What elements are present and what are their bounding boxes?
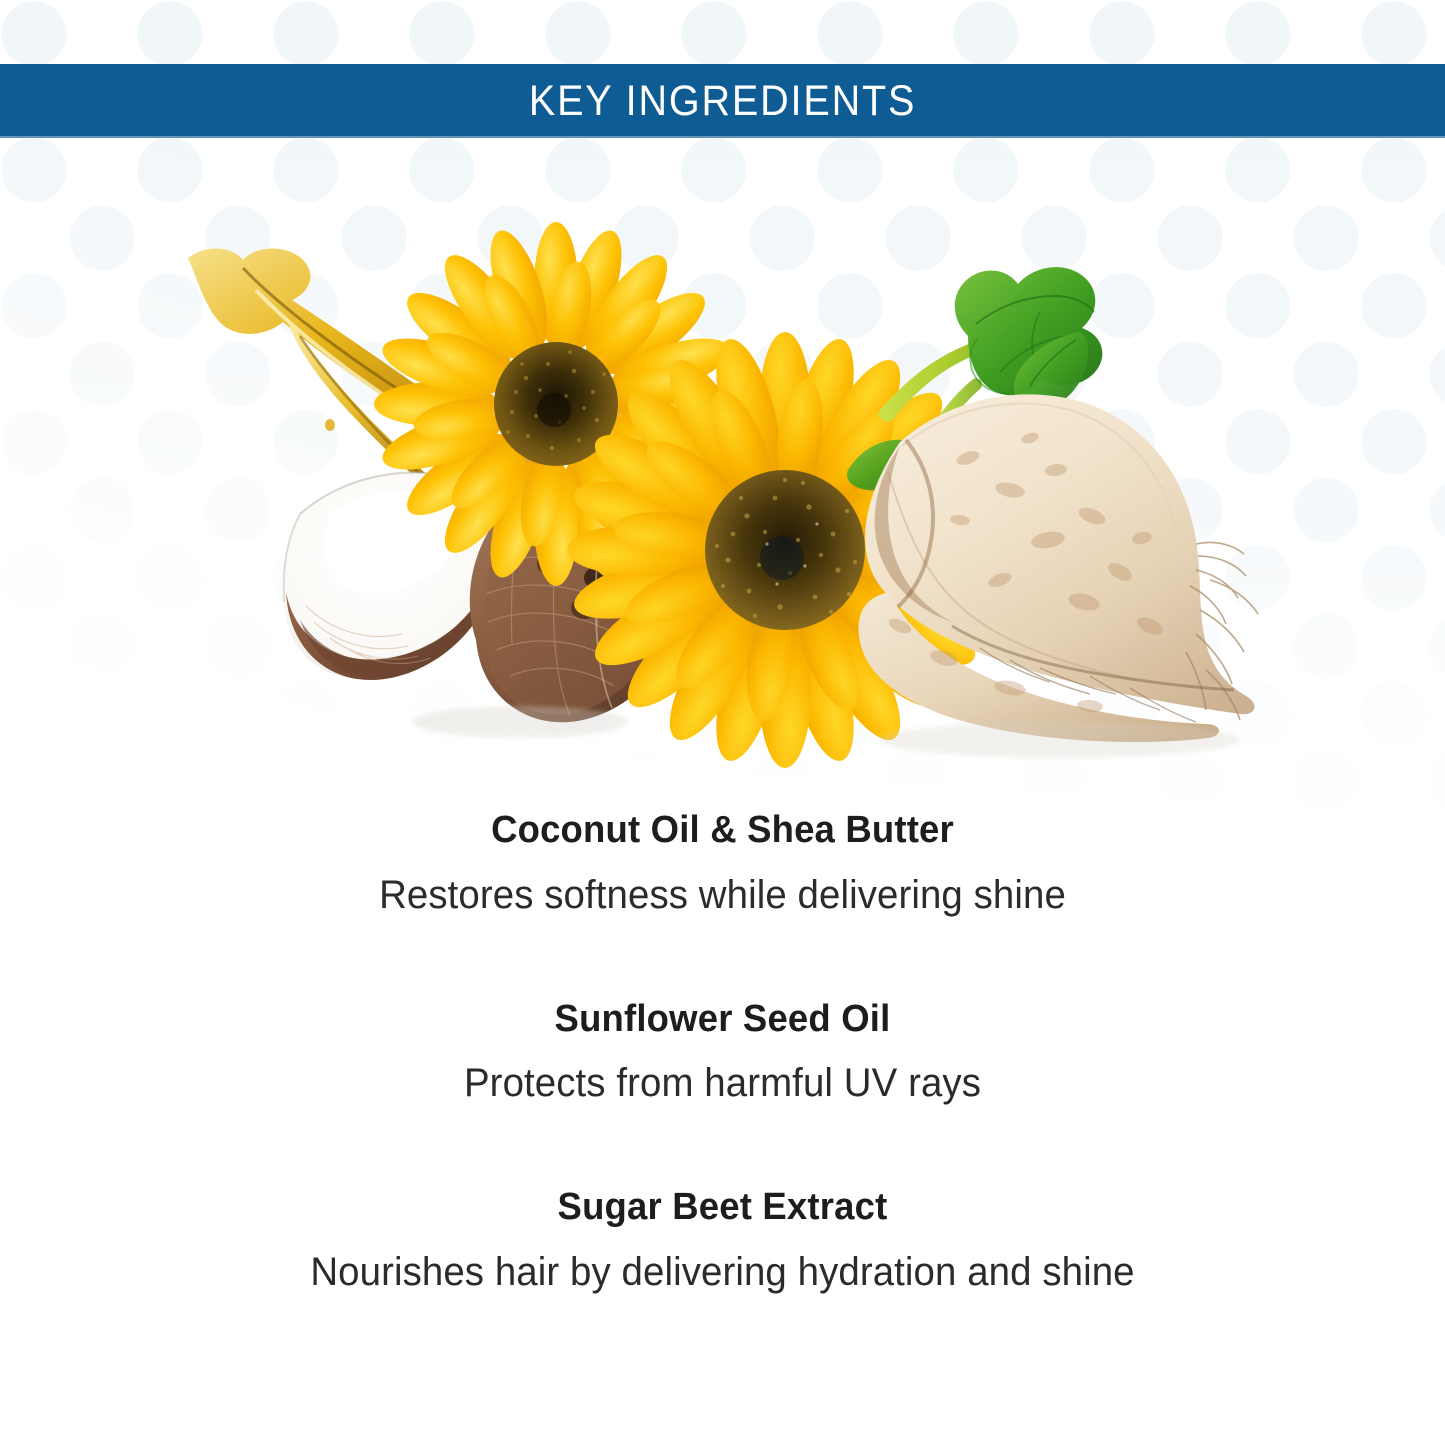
sugar-beet-graphic [847, 267, 1258, 758]
ingredient-name: Coconut Oil & Shea Butter [29, 806, 1416, 855]
ingredient-name: Sugar Beet Extract [29, 1183, 1416, 1232]
ingredient-item: Sunflower Seed Oil Protects from harmful… [0, 995, 1445, 1110]
page-title: KEY INGREDIENTS [529, 80, 916, 123]
hero-ingredients-image [0, 140, 1445, 780]
ingredient-item: Sugar Beet Extract Nourishes hair by del… [0, 1183, 1445, 1298]
ingredient-description: Restores softness while delivering shine [29, 869, 1416, 921]
ingredient-item: Coconut Oil & Shea Butter Restores softn… [0, 806, 1445, 921]
header-bar: KEY INGREDIENTS [0, 64, 1445, 138]
ingredient-description: Nourishes hair by delivering hydration a… [29, 1246, 1416, 1298]
ingredient-name: Sunflower Seed Oil [29, 995, 1416, 1044]
ingredient-list: Coconut Oil & Shea Butter Restores softn… [0, 806, 1445, 1298]
ingredient-description: Protects from harmful UV rays [29, 1057, 1416, 1109]
key-ingredients-infographic: KEY INGREDIENTS [0, 0, 1445, 1445]
